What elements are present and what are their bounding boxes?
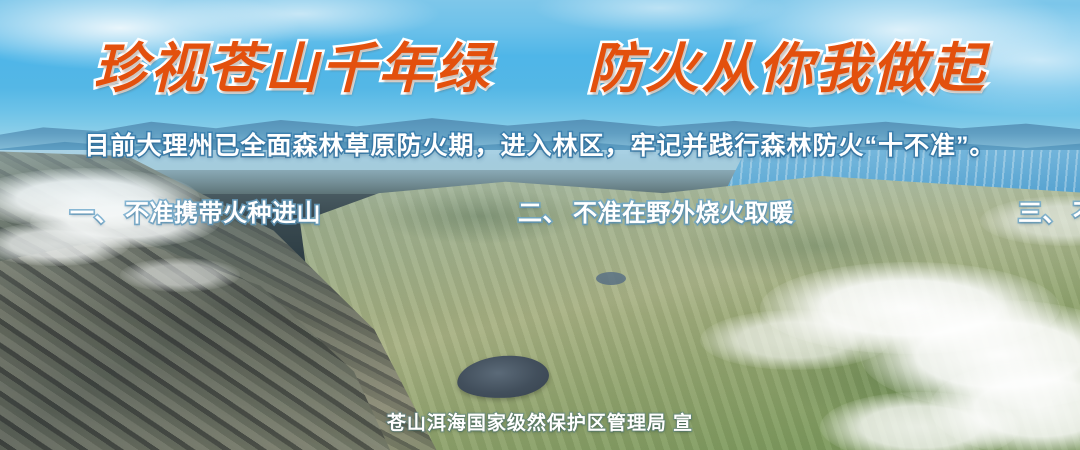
headline-left: 珍视苍山千年绿	[93, 36, 492, 100]
rule-text: 不准在林区吸烟点火照明	[1073, 193, 1080, 228]
poster-content: 珍视苍山千年绿 防火从你我做起 目前大理州已全面森林草原防火期，进入林区，牢记并…	[0, 0, 1080, 450]
fire-prevention-poster: 珍视苍山千年绿 防火从你我做起 目前大理州已全面森林草原防火期，进入林区，牢记并…	[0, 0, 1080, 450]
rule-item-1: 一、不准携带火种进山	[70, 190, 518, 231]
rule-item-2: 二、不准在野外烧火取暖	[518, 190, 1018, 231]
rule-number: 二、	[518, 193, 567, 228]
rule-text: 不准携带火种进山	[125, 193, 321, 228]
headline-right: 防火从你我做起	[588, 36, 987, 100]
rules-list: 一、不准携带火种进山二、不准在野外烧火取暖三、不准在林区吸烟点火照明四、不准在林…	[70, 190, 1018, 231]
rule-number: 一、	[70, 193, 119, 228]
rule-text: 不准在野外烧火取暖	[573, 193, 794, 228]
rule-item-3: 三、不准在林区吸烟点火照明	[1018, 190, 1080, 231]
rule-number: 三、	[1018, 193, 1067, 228]
headline: 珍视苍山千年绿 防火从你我做起	[0, 32, 1080, 104]
subtitle: 目前大理州已全面森林草原防火期，进入林区，牢记并践行森林防火“十不准”。	[0, 129, 1080, 163]
issuer-footer: 苍山洱海国家级然保护区管理局 宣	[0, 408, 1080, 435]
